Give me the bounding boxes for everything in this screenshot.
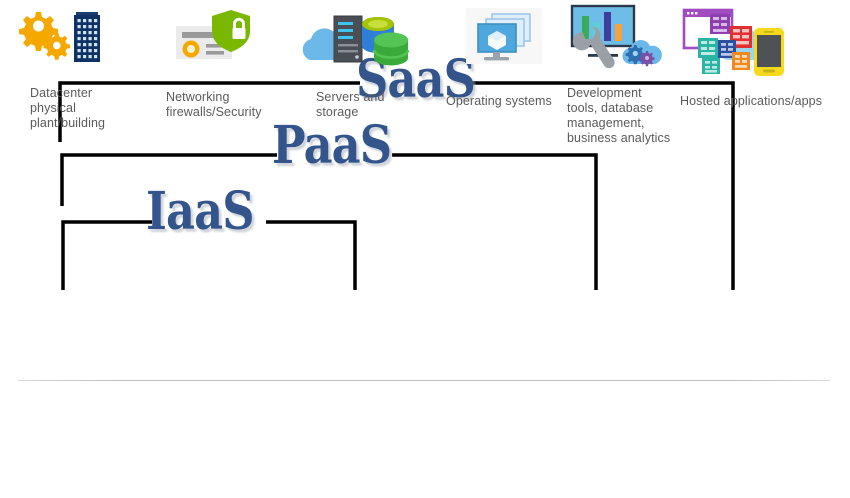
layer-caption-networking: Networking firewalls/Security (166, 90, 296, 120)
layer-icon-networking (164, 0, 264, 70)
layer-icon-operating-systems (460, 0, 550, 70)
layer-caption-hosted-applications: Hosted applications/apps (680, 94, 840, 109)
server-tower-icon (334, 16, 362, 62)
caption-line: Development (567, 86, 672, 101)
layer-caption-development-tools: Development tools, database management, … (567, 86, 672, 146)
layer-icon-hosted-applications (676, 0, 794, 70)
caption-line: physical (30, 101, 150, 116)
caption-line: business analytics (567, 131, 672, 146)
tier-label-iaas: IaaS (146, 186, 254, 238)
layer-caption-datacenter: Datacenter physical plant/building (30, 86, 150, 131)
smartphone-icon (754, 28, 784, 76)
caption-line: Datacenter (30, 86, 150, 101)
office-building-icon (74, 12, 100, 62)
caption-line: Networking (166, 90, 296, 105)
caption-line: firewalls/Security (166, 105, 296, 120)
caption-line: plant/building (30, 116, 150, 131)
caption-line: Servers and (316, 90, 426, 105)
caption-line: Hosted applications/apps (680, 94, 840, 109)
caption-line: storage (316, 105, 426, 120)
caption-line: management, (567, 116, 672, 131)
layer-icon-datacenter (14, 0, 114, 70)
tier-label-paas: PaaS (272, 120, 391, 172)
cloud-service-models-diagram: SaaS PaaS IaaS (0, 0, 850, 498)
layer-icon-servers-storage (302, 0, 412, 70)
database-cylinders-icon (362, 17, 408, 66)
layer-caption-servers-storage: Servers and storage (316, 90, 426, 120)
layer-separator-rule (18, 380, 830, 381)
layer-caption-operating-systems: Operating systems (446, 94, 576, 109)
layer-icon-development-tools (560, 0, 670, 70)
caption-line: tools, database (567, 101, 672, 116)
caption-line: Operating systems (446, 94, 576, 109)
